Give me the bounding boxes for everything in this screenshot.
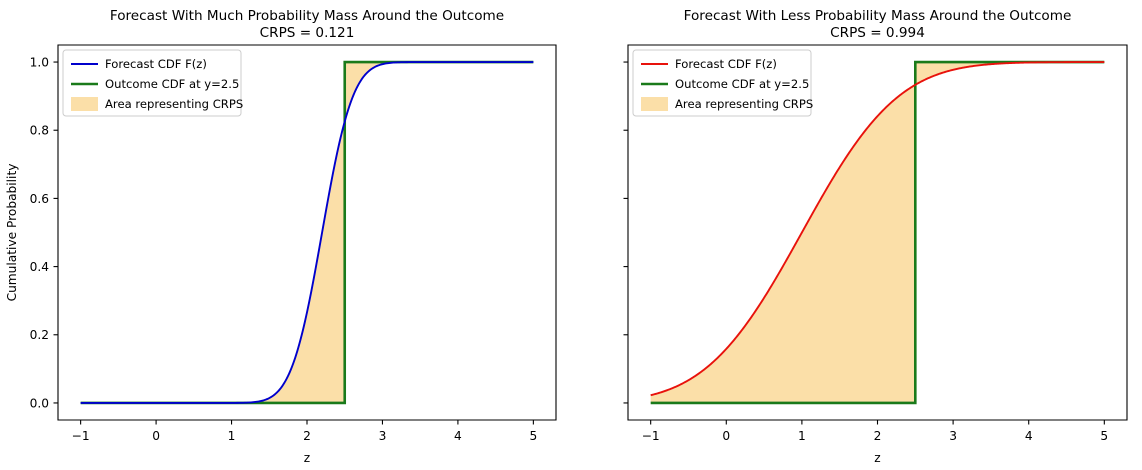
- chart-svg-right: Forecast With Less Probability Mass Arou…: [571, 0, 1142, 470]
- crps-area-right-of-outcome: [345, 62, 534, 121]
- chart-svg-left: Forecast With Much Probability Mass Arou…: [0, 0, 571, 470]
- legend-item-label: Area representing CRPS: [675, 97, 813, 111]
- y-tick-label: 0.4: [30, 260, 50, 274]
- y-tick-label: 0.8: [30, 124, 49, 138]
- x-tick-label: 2: [874, 429, 882, 443]
- chart-panel-left: Forecast With Much Probability Mass Arou…: [0, 0, 571, 470]
- y-tick-label: 0.6: [30, 192, 49, 206]
- x-tick-label: 0: [722, 429, 730, 443]
- x-tick-label: 3: [949, 429, 957, 443]
- chart-subtitle-crps: CRPS = 0.121: [260, 25, 355, 41]
- y-tick-label: 1.0: [30, 55, 49, 69]
- y-axis-label: Cumulative Probability: [5, 164, 19, 302]
- crps-area-left-of-outcome: [651, 85, 916, 403]
- legend-item-label: Forecast CDF F(z): [105, 57, 207, 71]
- legend-item-label: Area representing CRPS: [105, 97, 243, 111]
- chart-title: Forecast With Less Probability Mass Arou…: [684, 8, 1072, 24]
- y-tick-label: 0.0: [30, 396, 49, 410]
- crps-area-left-of-outcome: [81, 121, 345, 403]
- x-tick-label: 5: [529, 429, 537, 443]
- x-tick-label: 3: [379, 429, 387, 443]
- x-tick-label: 5: [1100, 429, 1108, 443]
- legend-patch-swatch: [71, 97, 98, 111]
- x-tick-label: 4: [454, 429, 462, 443]
- legend-item-label: Outcome CDF at y=2.5: [675, 77, 809, 91]
- x-tick-label: 0: [152, 429, 160, 443]
- x-tick-label: 1: [798, 429, 806, 443]
- x-tick-label: 2: [303, 429, 311, 443]
- x-tick-label: −1: [642, 429, 660, 443]
- legend-item-label: Forecast CDF F(z): [675, 57, 777, 71]
- chart-title: Forecast With Much Probability Mass Arou…: [110, 8, 504, 24]
- legend-patch-swatch: [641, 97, 668, 111]
- x-axis-label: z: [304, 451, 310, 465]
- x-tick-label: 1: [228, 429, 236, 443]
- legend-item-label: Outcome CDF at y=2.5: [105, 77, 239, 91]
- x-tick-label: −1: [72, 429, 90, 443]
- chart-panel-right: Forecast With Less Probability Mass Arou…: [571, 0, 1142, 470]
- figure-canvas: Forecast With Much Probability Mass Arou…: [0, 0, 1142, 470]
- x-axis-label: z: [874, 451, 880, 465]
- chart-subtitle-crps: CRPS = 0.994: [830, 25, 925, 41]
- x-tick-label: 4: [1025, 429, 1033, 443]
- y-tick-label: 0.2: [30, 328, 49, 342]
- crps-area-right-of-outcome: [915, 62, 1104, 85]
